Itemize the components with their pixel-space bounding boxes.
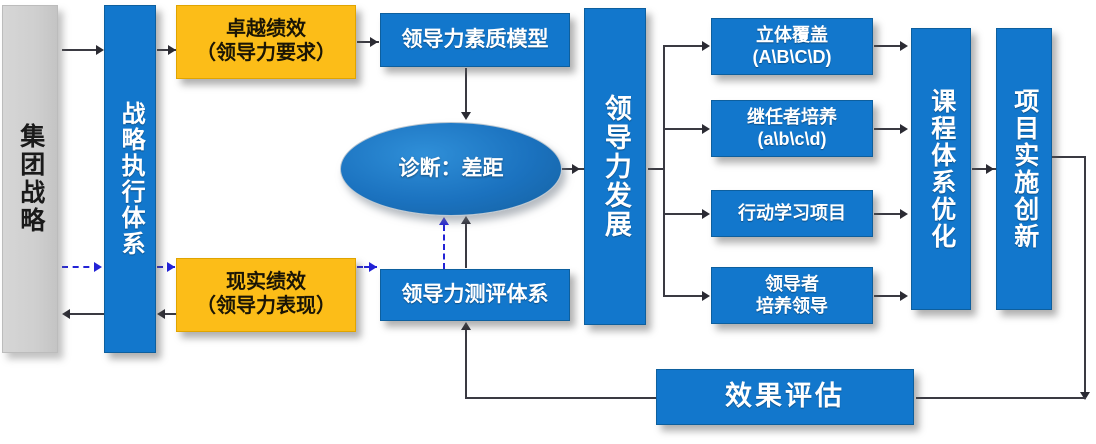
arrowhead-evaluation-to-assessment bbox=[461, 322, 471, 330]
arrowhead-strategy-to-execution-dashed bbox=[94, 262, 102, 272]
node-leader-develops-leader[interactable]: 领导者 培养领导 bbox=[711, 267, 873, 324]
node-leadership-model-label: 领导力素质模型 bbox=[402, 28, 549, 53]
node-group-strategy-label: 集团战略 bbox=[15, 123, 45, 235]
node-group-strategy[interactable]: 集团战略 bbox=[2, 5, 58, 353]
node-curriculum-optimization-label: 课程体系优化 bbox=[926, 88, 956, 250]
arrowhead-execution-to-strategy-return bbox=[62, 309, 70, 319]
node-diagnosis-gap[interactable]: 诊断：差距 bbox=[340, 122, 562, 216]
arrowhead-assessment-to-diagnosis bbox=[461, 216, 471, 224]
arrowhead-successor-to-curriculum bbox=[900, 124, 908, 134]
arrowhead-branch-coverage bbox=[702, 41, 710, 51]
arrowhead-action-learning-to-curriculum bbox=[900, 209, 908, 219]
arrowhead-diagnosis-to-development bbox=[572, 164, 580, 174]
node-strategy-execution-label: 战略执行体系 bbox=[116, 101, 144, 257]
arrowhead-model-to-diagnosis bbox=[461, 112, 471, 120]
arrowhead-branch-leader-develops-leader bbox=[702, 291, 710, 301]
node-diagnosis-gap-label: 诊断：差距 bbox=[399, 157, 504, 182]
arrowhead-curriculum-to-innovation bbox=[986, 164, 994, 174]
connector-assessment-to-diagnosis bbox=[465, 224, 467, 268]
node-coverage-label: 立体覆盖 (A\B\C\D) bbox=[753, 25, 832, 67]
node-successor-label: 继任者培养 (a\b\c\d) bbox=[747, 107, 837, 149]
node-leadership-model[interactable]: 领导力素质模型 bbox=[380, 13, 570, 67]
connector-evaluation-to-right bbox=[916, 397, 1086, 399]
diagram-canvas: 集团战略 战略执行体系 卓越绩效 （领导力要求） 现实绩效 （领导力表现） 领导… bbox=[0, 0, 1096, 444]
connector-innovation-to-right bbox=[1052, 156, 1086, 158]
node-successor[interactable]: 继任者培养 (a\b\c\d) bbox=[711, 100, 873, 157]
connector-innovation-down bbox=[1084, 156, 1086, 398]
arrowhead-innovation-down bbox=[1080, 392, 1090, 400]
node-effect-evaluation-label: 效果评估 bbox=[725, 381, 845, 413]
node-leadership-assessment[interactable]: 领导力测评体系 bbox=[380, 269, 570, 321]
connector-development-trunk bbox=[663, 45, 665, 296]
arrowhead-actual-to-execution-return bbox=[157, 309, 165, 319]
node-leader-develops-leader-label: 领导者 培养领导 bbox=[756, 274, 828, 316]
connector-evaluation-up bbox=[465, 330, 467, 398]
node-leadership-development-label: 领导力发展 bbox=[599, 94, 631, 239]
node-strategy-execution[interactable]: 战略执行体系 bbox=[104, 5, 156, 353]
node-excellent-performance-label: 卓越绩效 （领导力要求） bbox=[196, 18, 336, 65]
node-action-learning-label: 行动学习项目 bbox=[738, 203, 846, 224]
node-project-innovation[interactable]: 项目实施创新 bbox=[996, 28, 1052, 310]
node-excellent-performance[interactable]: 卓越绩效 （领导力要求） bbox=[176, 5, 356, 79]
node-project-innovation-label: 项目实施创新 bbox=[1009, 88, 1039, 250]
node-coverage[interactable]: 立体覆盖 (A\B\C\D) bbox=[711, 18, 873, 75]
node-actual-performance-label: 现实绩效 （领导力表现） bbox=[196, 271, 336, 318]
node-effect-evaluation[interactable]: 效果评估 bbox=[656, 369, 914, 425]
node-action-learning[interactable]: 行动学习项目 bbox=[711, 190, 873, 237]
arrowhead-actual-to-diagnosis-dashed bbox=[439, 217, 449, 225]
arrowhead-execution-to-actual-dashed bbox=[167, 262, 175, 272]
arrowhead-branch-action-learning bbox=[702, 209, 710, 219]
connector-actual-to-diagnosis-dashed bbox=[443, 225, 445, 269]
node-leadership-assessment-label: 领导力测评体系 bbox=[402, 283, 549, 308]
node-leadership-development[interactable]: 领导力发展 bbox=[584, 8, 646, 325]
arrowhead-leader-develops-to-curriculum bbox=[900, 291, 908, 301]
arrowhead-strategy-to-execution bbox=[96, 45, 104, 55]
arrowhead-coverage-to-curriculum bbox=[900, 41, 908, 51]
arrowhead-excellent-to-model bbox=[370, 37, 378, 47]
connector-evaluation-to-left bbox=[465, 397, 657, 399]
node-curriculum-optimization[interactable]: 课程体系优化 bbox=[911, 28, 971, 310]
arrowhead-execution-to-excellent bbox=[168, 45, 176, 55]
connector-execution-to-strategy-return bbox=[68, 313, 104, 315]
node-actual-performance[interactable]: 现实绩效 （领导力表现） bbox=[176, 258, 356, 332]
connector-model-to-diagnosis bbox=[465, 68, 467, 114]
arrowhead-actual-to-assessment-dashed bbox=[369, 262, 377, 272]
arrowhead-branch-successor bbox=[702, 124, 710, 134]
